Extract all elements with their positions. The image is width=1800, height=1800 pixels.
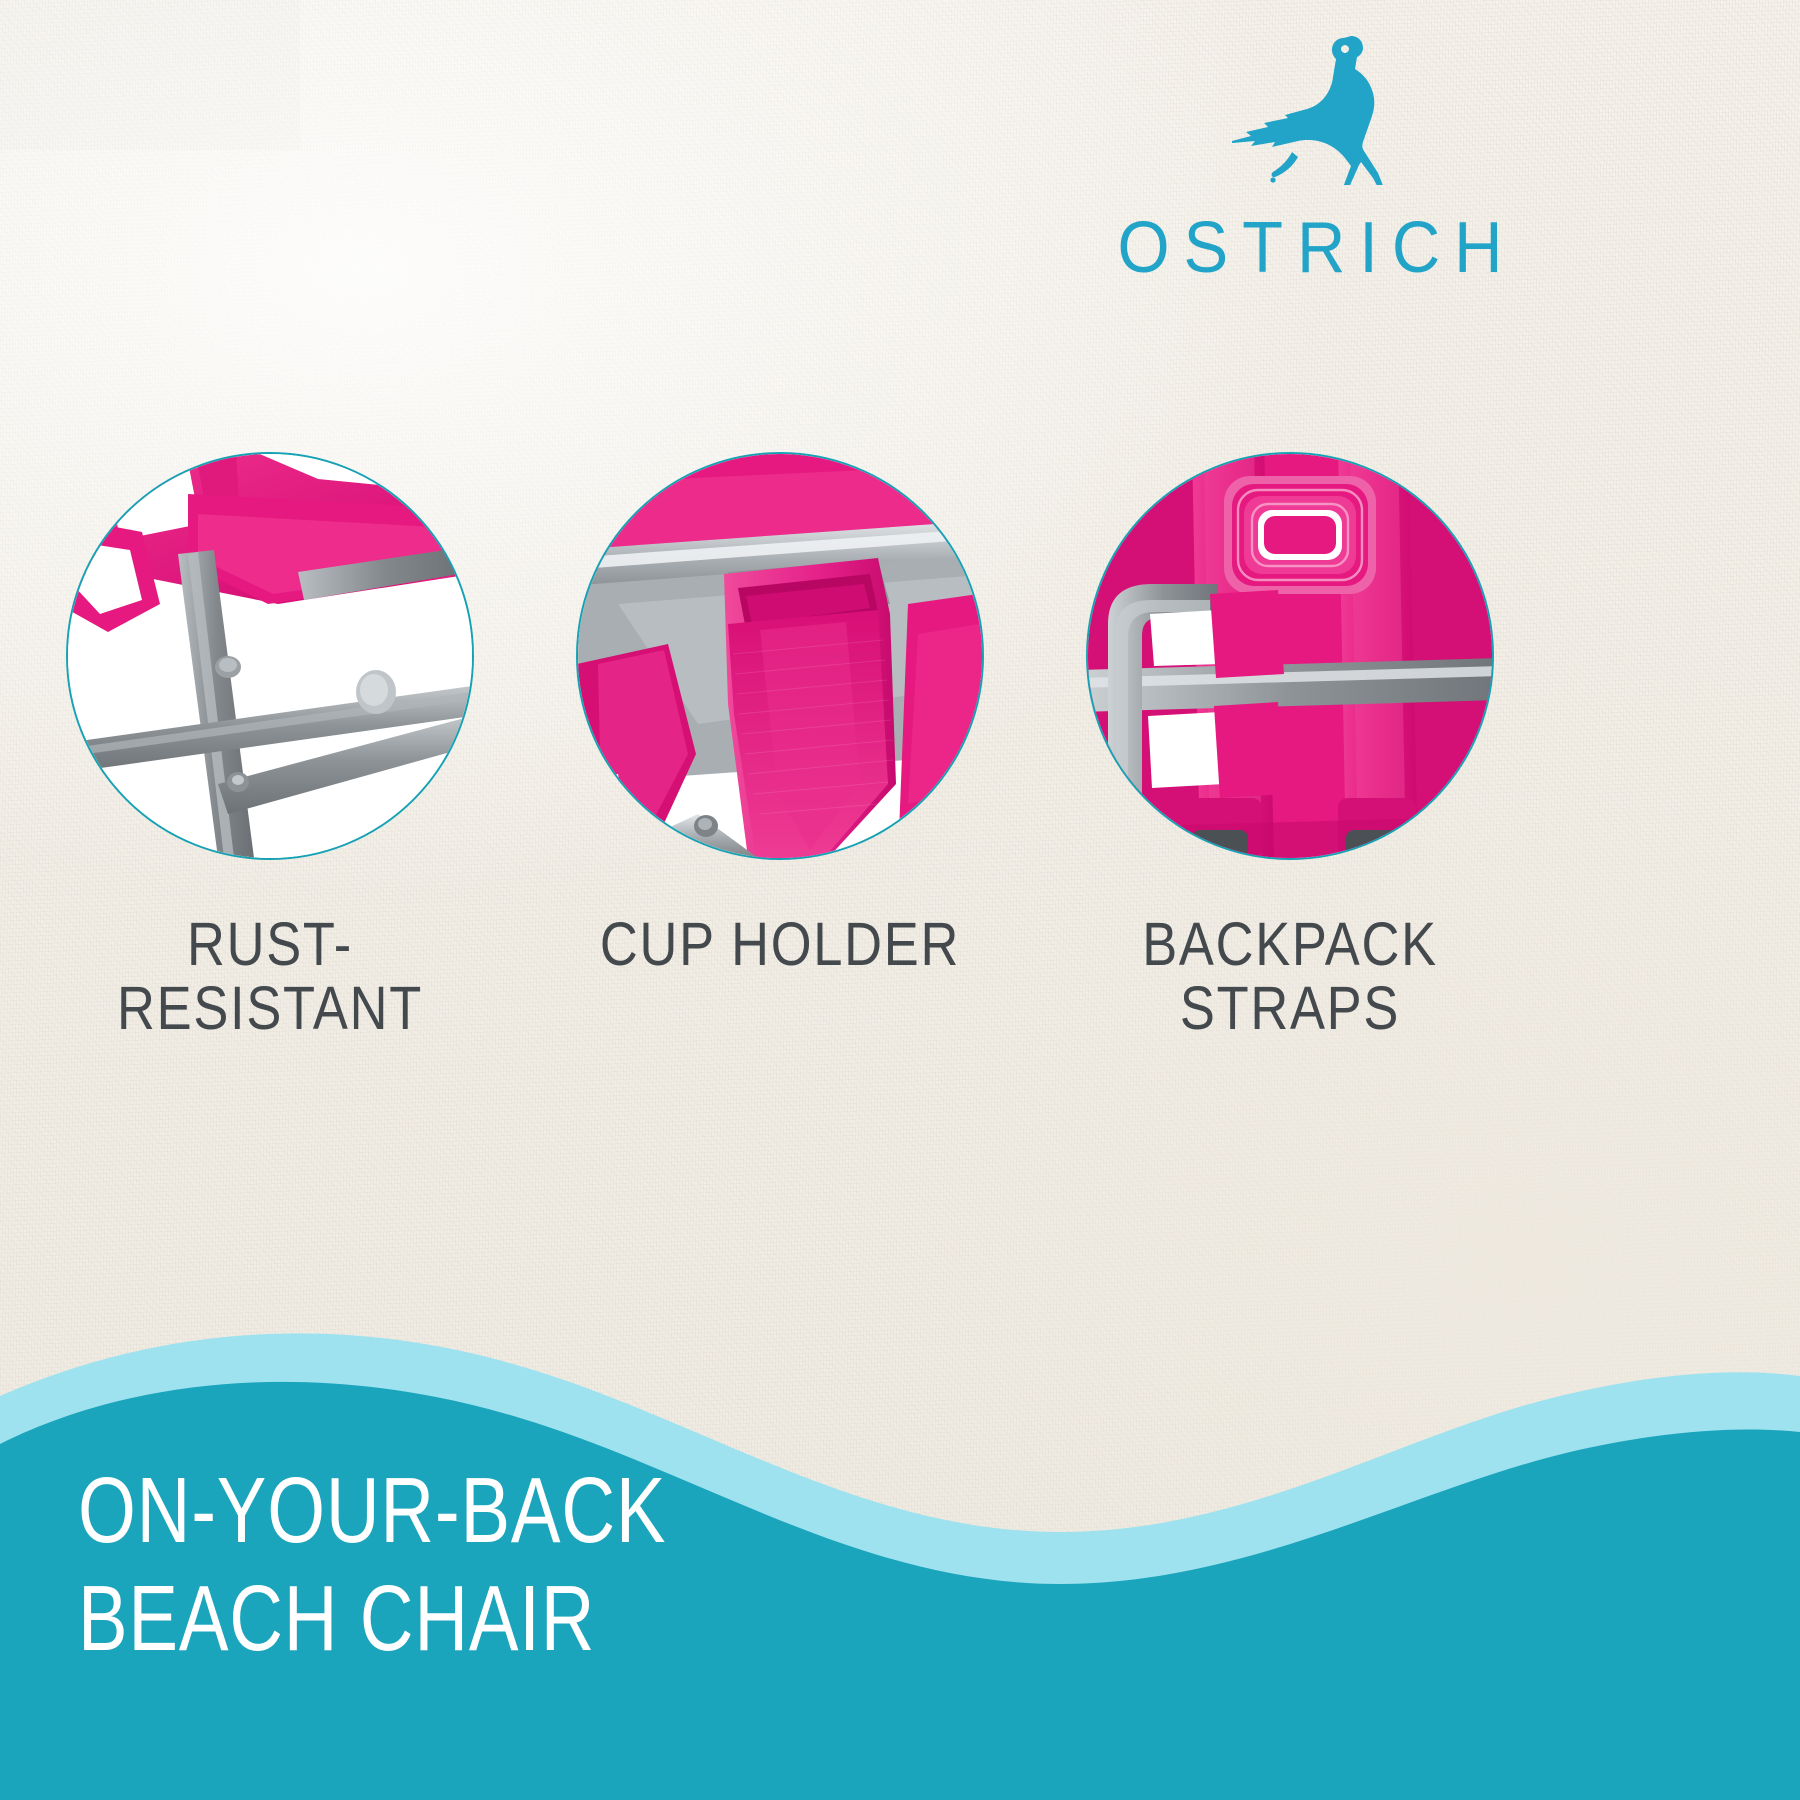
brand-wordmark: OSTRICH [1096,212,1524,284]
feature-backpack-straps: BACKPACK STRAPS [1080,452,1500,1040]
feature-image-cup-holder [576,452,984,860]
feature-caption-backpack-straps: BACKPACK STRAPS [1109,912,1470,1040]
feature-image-backpack-straps [1086,452,1494,860]
feature-caption-cup-holder: CUP HOLDER [599,912,960,976]
feature-image-rust-resistant [66,452,474,860]
feature-caption-rust-resistant: RUST- RESISTANT [89,912,450,1040]
feature-cup-holder: CUP HOLDER [570,452,990,976]
feature-rust-resistant: RUST- RESISTANT [60,452,480,1040]
ostrich-bird-icon [1232,30,1392,185]
brand-logo: OSTRICH [1080,30,1540,295]
paper-grain-overlay [0,0,300,150]
product-headline: ON-YOUR-BACK BEACH CHAIR [78,1456,666,1672]
